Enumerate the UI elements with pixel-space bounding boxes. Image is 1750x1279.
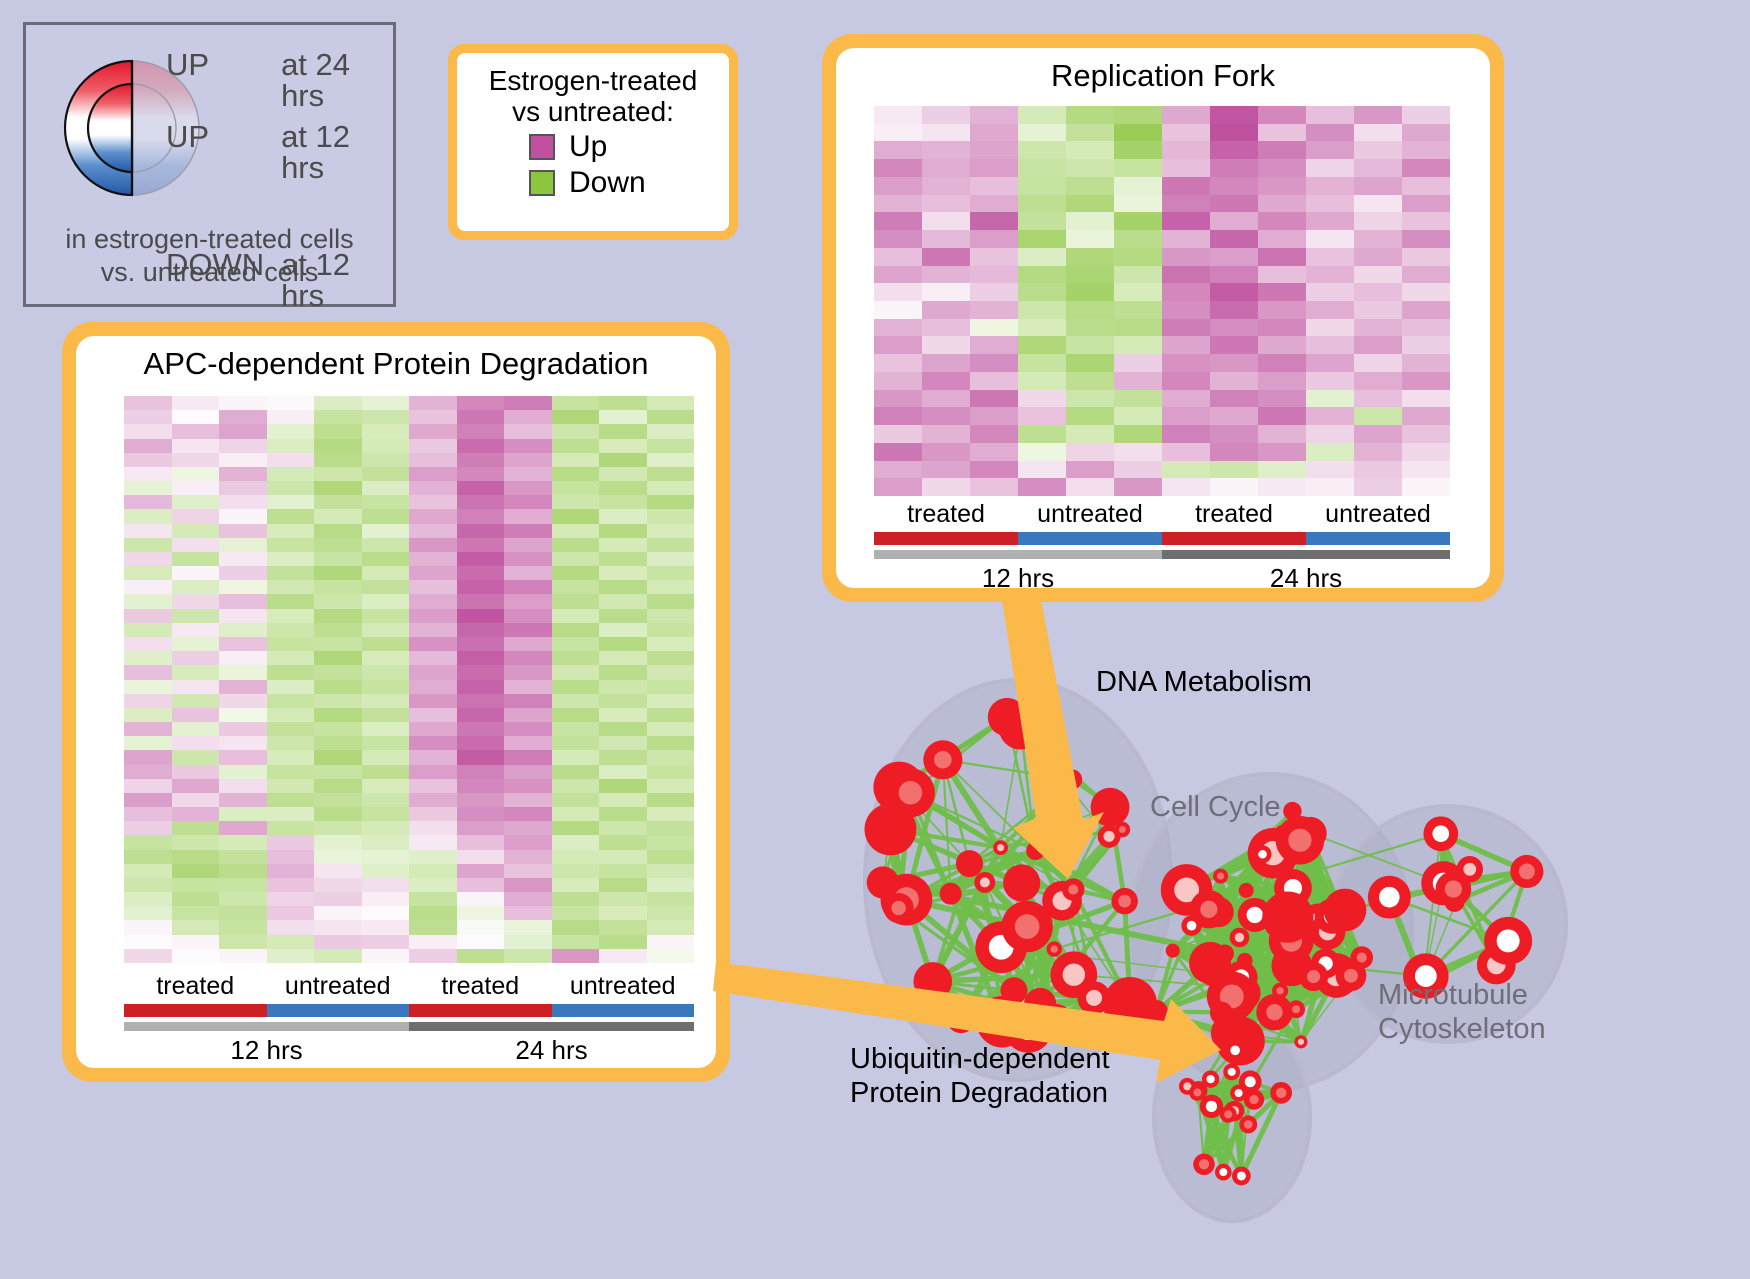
color-key-row: UP at 12 hrs xyxy=(166,121,393,183)
heatmap-cell xyxy=(1066,425,1114,443)
heatmap-cell xyxy=(124,864,172,878)
heatmap-cell xyxy=(1354,478,1402,496)
heatmap-cell xyxy=(1258,301,1306,319)
network-node-core xyxy=(1379,887,1400,908)
network-node-core xyxy=(1432,825,1449,842)
heatmap-cell xyxy=(874,141,922,159)
heatmap-cell xyxy=(409,580,457,594)
heatmap-cell xyxy=(457,665,505,679)
heatmap-cell xyxy=(219,779,267,793)
heatmap-cell xyxy=(124,566,172,580)
heatmap-cell xyxy=(124,949,172,963)
heatmap-cell xyxy=(314,850,362,864)
heatmap-cell xyxy=(647,524,695,538)
heatmap-cell xyxy=(219,524,267,538)
heatmap-cell xyxy=(362,609,410,623)
heatmap-cell xyxy=(219,609,267,623)
network-node-core xyxy=(1104,831,1115,842)
heatmap-cell xyxy=(874,195,922,213)
color-key-direction: UP xyxy=(166,121,281,152)
heatmap-cell xyxy=(874,106,922,124)
heatmap-cell xyxy=(267,524,315,538)
heatmap-cell xyxy=(362,651,410,665)
heatmap-cell xyxy=(267,481,315,495)
heatmap-cell xyxy=(1018,390,1066,408)
network-node-core xyxy=(1276,1088,1286,1098)
network-node xyxy=(999,706,1043,750)
network-node xyxy=(1166,944,1180,958)
heatmap-cell xyxy=(219,750,267,764)
heatmap-cell xyxy=(504,637,552,651)
network-node-core xyxy=(1206,1101,1217,1112)
network-node-core xyxy=(1016,1017,1039,1040)
heatmap-cell xyxy=(1018,283,1066,301)
heatmap-cell xyxy=(599,509,647,523)
axis-group-label: untreated xyxy=(1306,500,1450,529)
heatmap-cell xyxy=(362,424,410,438)
heatmap-cell xyxy=(1066,478,1114,496)
heatmap-cell xyxy=(504,509,552,523)
heatmap-cell xyxy=(267,623,315,637)
heatmap-cell xyxy=(599,821,647,835)
heatmap-cell xyxy=(1114,283,1162,301)
heatmap-cell xyxy=(922,319,970,337)
heatmap-cell xyxy=(267,878,315,892)
heatmap-cell xyxy=(504,736,552,750)
heatmap-cell xyxy=(874,301,922,319)
heatmap-cell xyxy=(362,835,410,849)
heatmap-cell xyxy=(1162,230,1210,248)
heatmap-cell xyxy=(124,410,172,424)
heatmap-cell xyxy=(922,461,970,479)
heatmap-cell xyxy=(599,835,647,849)
network-node-core xyxy=(1068,885,1078,895)
heatmap-cell xyxy=(267,637,315,651)
heatmap-cell xyxy=(1162,141,1210,159)
heatmap-cell xyxy=(1162,212,1210,230)
heatmap-cell xyxy=(219,396,267,410)
heatmap-cell xyxy=(314,935,362,949)
heatmap-cell xyxy=(172,665,220,679)
heatmap-cell xyxy=(552,892,600,906)
heatmap-cell xyxy=(457,623,505,637)
heatmap-cell xyxy=(1018,177,1066,195)
heatmap-cell xyxy=(1258,248,1306,266)
heatmap-cell xyxy=(1018,212,1066,230)
heatmap-cell xyxy=(409,594,457,608)
heatmap-apc-degradation xyxy=(124,396,694,963)
heatmap-cell xyxy=(172,580,220,594)
axis-group-label: untreated xyxy=(267,972,410,1001)
heatmap-cell xyxy=(124,538,172,552)
heatmap-cell xyxy=(599,864,647,878)
heatmap-cell xyxy=(362,765,410,779)
heatmap-cell xyxy=(172,623,220,637)
heatmap-cell xyxy=(1114,124,1162,142)
heatmap-cell xyxy=(219,835,267,849)
heatmap-cell xyxy=(552,538,600,552)
network-node-core xyxy=(1247,907,1263,923)
network-node xyxy=(1062,769,1082,789)
heatmap-cell xyxy=(172,949,220,963)
heatmap-cell xyxy=(409,906,457,920)
heatmap-cell xyxy=(409,892,457,906)
heatmap-cell xyxy=(124,495,172,509)
heatmap-cell xyxy=(172,439,220,453)
network-label-line1: Microtubule xyxy=(1378,978,1546,1012)
heatmap-cell xyxy=(267,850,315,864)
heatmap-cell xyxy=(362,665,410,679)
heatmap-cell xyxy=(552,821,600,835)
heatmap-cell xyxy=(1114,195,1162,213)
heatmap-cell xyxy=(647,538,695,552)
network-node xyxy=(1210,1002,1233,1025)
heatmap-cell xyxy=(172,651,220,665)
color-key-time: at 24 hrs xyxy=(281,49,393,111)
heatmap-cell xyxy=(172,453,220,467)
heatmap-cell xyxy=(504,779,552,793)
heatmap-cell xyxy=(267,736,315,750)
heatmap-cell xyxy=(1402,354,1450,372)
heatmap-cell xyxy=(647,410,695,424)
axis-treatment-segment xyxy=(267,1004,410,1017)
heatmap-cell xyxy=(1354,212,1402,230)
heatmap-cell xyxy=(1402,425,1450,443)
heatmap-cell xyxy=(1162,425,1210,443)
heatmap-cell xyxy=(172,509,220,523)
heatmap-cell xyxy=(1162,124,1210,142)
heatmap-cell xyxy=(874,266,922,284)
heatmap-cell xyxy=(1018,248,1066,266)
heatmap-cell xyxy=(647,439,695,453)
heatmap-cell xyxy=(172,396,220,410)
heatmap-cell xyxy=(1066,336,1114,354)
heatmap-cell xyxy=(457,722,505,736)
heatmap-cell xyxy=(457,750,505,764)
heatmap-cell xyxy=(647,594,695,608)
legend-label-down: Down xyxy=(569,166,646,200)
heatmap-cell xyxy=(219,566,267,580)
heatmap-cell xyxy=(1066,159,1114,177)
heatmap-cell xyxy=(172,920,220,934)
heatmap-cell xyxy=(1114,372,1162,390)
heatmap-cell xyxy=(362,708,410,722)
heatmap-cell xyxy=(362,892,410,906)
heatmap-cell xyxy=(1258,407,1306,425)
heatmap-cell xyxy=(314,623,362,637)
heatmap-cell xyxy=(1018,336,1066,354)
heatmap-cell xyxy=(314,949,362,963)
color-key-time: at 12 hrs xyxy=(281,121,393,183)
heatmap-cell xyxy=(172,736,220,750)
heatmap-cell xyxy=(124,623,172,637)
heatmap-cell xyxy=(599,580,647,594)
network-node-core xyxy=(1357,952,1367,962)
heatmap-cell xyxy=(267,935,315,949)
heatmap-cell xyxy=(457,424,505,438)
heatmap-cell xyxy=(362,594,410,608)
heatmap-cell xyxy=(1258,266,1306,284)
heatmap-cell xyxy=(599,736,647,750)
heatmap-cell xyxy=(599,623,647,637)
heatmap-cell xyxy=(124,439,172,453)
heatmap-cell xyxy=(599,750,647,764)
heatmap-cell xyxy=(1306,248,1354,266)
heatmap-cell xyxy=(362,495,410,509)
network-node xyxy=(1003,864,1040,901)
heatmap-cell xyxy=(1210,212,1258,230)
heatmap-cell xyxy=(1306,443,1354,461)
heatmap-cell xyxy=(314,566,362,580)
heatmap-cell xyxy=(874,354,922,372)
heatmap-cell xyxy=(362,580,410,594)
heatmap-cell xyxy=(552,609,600,623)
heatmap-cell xyxy=(314,396,362,410)
axis-time-label: 24 hrs xyxy=(409,1035,694,1066)
heatmap-cell xyxy=(1018,425,1066,443)
network-label-cell-cycle: Cell Cycle xyxy=(1150,790,1281,824)
heatmap-cell xyxy=(1354,425,1402,443)
heatmap-cell xyxy=(552,651,600,665)
heatmap-cell xyxy=(922,443,970,461)
heatmap-cell xyxy=(504,623,552,637)
heatmap-cell xyxy=(172,892,220,906)
legend-item-down: Down xyxy=(529,166,715,200)
heatmap-cell xyxy=(1354,230,1402,248)
heatmap-cell xyxy=(124,481,172,495)
heatmap-cell xyxy=(1162,266,1210,284)
heatmap-cell xyxy=(970,372,1018,390)
heatmap-cell xyxy=(457,439,505,453)
heatmap-cell xyxy=(1210,266,1258,284)
heatmap-cell xyxy=(552,467,600,481)
heatmap-cell xyxy=(314,920,362,934)
heatmap-cell xyxy=(1354,106,1402,124)
heatmap-cell xyxy=(219,467,267,481)
heatmap-cell xyxy=(267,680,315,694)
heatmap-cell xyxy=(124,509,172,523)
heatmap-cell xyxy=(1210,478,1258,496)
network-node-core xyxy=(934,751,952,769)
axis-treatment-bar xyxy=(874,532,1450,545)
heatmap-cell xyxy=(599,708,647,722)
heatmap-cell xyxy=(552,637,600,651)
heatmap-cell xyxy=(172,722,220,736)
heatmap-cell xyxy=(124,906,172,920)
heatmap-cell xyxy=(1066,319,1114,337)
network-node-core xyxy=(1292,1005,1300,1013)
heatmap-cell xyxy=(970,336,1018,354)
heatmap-cell xyxy=(504,665,552,679)
heatmap-cell xyxy=(504,481,552,495)
heatmap-cell xyxy=(1114,106,1162,124)
heatmap-cell xyxy=(647,708,695,722)
heatmap-cell xyxy=(647,495,695,509)
heatmap-cell xyxy=(1066,266,1114,284)
heatmap-cell xyxy=(124,396,172,410)
heatmap-cell xyxy=(457,509,505,523)
heatmap-cell xyxy=(1354,283,1402,301)
heatmap-cell xyxy=(1210,319,1258,337)
heatmap-cell xyxy=(1306,106,1354,124)
heatmap-cell xyxy=(219,935,267,949)
axis-time-segment xyxy=(874,550,1162,559)
heatmap-cell xyxy=(172,807,220,821)
heatmap-cell xyxy=(124,694,172,708)
network-node-core xyxy=(1118,895,1131,908)
network-node-core xyxy=(1199,1159,1209,1169)
legend-title: Estrogen-treated vs untreated: xyxy=(471,65,715,128)
heatmap-cell xyxy=(1114,478,1162,496)
heatmap-cell xyxy=(504,439,552,453)
heatmap-cell xyxy=(922,283,970,301)
color-key-footer: in estrogen-treated cells vs. untreated … xyxy=(26,223,393,289)
heatmap-cell xyxy=(1402,461,1450,479)
heatmap-cell xyxy=(647,467,695,481)
heatmap-cell xyxy=(1402,336,1450,354)
heatmap-cell xyxy=(1210,177,1258,195)
legend-label-up: Up xyxy=(569,130,607,164)
heatmap-cell xyxy=(970,390,1018,408)
heatmap-cell xyxy=(124,708,172,722)
heatmap-cell xyxy=(1162,461,1210,479)
heatmap-cell xyxy=(457,651,505,665)
network-node-core xyxy=(980,877,990,887)
heatmap-cell xyxy=(409,807,457,821)
heatmap-cell xyxy=(1258,425,1306,443)
network-node-core xyxy=(891,901,905,915)
heatmap-cell xyxy=(1066,443,1114,461)
heatmap-cell xyxy=(922,478,970,496)
heatmap-cell xyxy=(1402,195,1450,213)
network-node xyxy=(1144,1000,1168,1024)
heatmap-cell xyxy=(457,694,505,708)
axis-treatment-segment xyxy=(1162,532,1306,545)
heatmap-cell xyxy=(1210,336,1258,354)
heatmap-cell xyxy=(457,524,505,538)
heatmap-cell xyxy=(172,424,220,438)
heatmap-cell xyxy=(172,935,220,949)
heatmap-cell xyxy=(219,439,267,453)
heatmap-replication-fork xyxy=(874,106,1450,496)
heatmap-cell xyxy=(314,410,362,424)
axis-treatment-segment xyxy=(409,1004,552,1017)
axis-group-labels: treateduntreatedtreateduntreated xyxy=(124,972,694,1001)
heatmap-cell xyxy=(409,665,457,679)
heatmap-cell xyxy=(172,637,220,651)
heatmap-cell xyxy=(552,750,600,764)
heatmap-cell xyxy=(504,424,552,438)
heatmap-cell xyxy=(1306,212,1354,230)
heatmap-cell xyxy=(552,439,600,453)
heatmap-cell xyxy=(552,509,600,523)
network-node-core xyxy=(1235,1089,1243,1097)
heatmap-cell xyxy=(504,722,552,736)
heatmap-cell xyxy=(504,750,552,764)
heatmap-cell xyxy=(124,878,172,892)
heatmap-cell xyxy=(314,708,362,722)
heatmap-cell xyxy=(314,481,362,495)
heatmap-cell xyxy=(1354,319,1402,337)
heatmap-cell xyxy=(124,920,172,934)
heatmap-cell xyxy=(970,248,1018,266)
heatmap-cell xyxy=(552,495,600,509)
heatmap-cell xyxy=(124,765,172,779)
heatmap-cell xyxy=(647,835,695,849)
heatmap-cell xyxy=(599,949,647,963)
axis-time-segment xyxy=(409,1022,694,1031)
legend-title-line2: vs untreated: xyxy=(471,96,715,127)
heatmap-cell xyxy=(314,637,362,651)
heatmap-cell xyxy=(1258,195,1306,213)
heatmap-cell xyxy=(314,424,362,438)
heatmap-cell xyxy=(314,878,362,892)
pathway-network-diagram: DNA Metabolism Cell Cycle Microtubule Cy… xyxy=(800,612,1750,1279)
network-node xyxy=(1262,891,1313,942)
heatmap-cell xyxy=(504,538,552,552)
heatmap-cell xyxy=(409,765,457,779)
heatmap-cell xyxy=(552,864,600,878)
network-node-core xyxy=(1193,1089,1201,1097)
network-node xyxy=(946,1003,976,1033)
heatmap-cell xyxy=(1354,461,1402,479)
heatmap-cell xyxy=(409,495,457,509)
axis-group-label: treated xyxy=(1162,500,1306,529)
heatmap-cell xyxy=(504,580,552,594)
heatmap-cell xyxy=(1258,372,1306,390)
heatmap-cell xyxy=(267,410,315,424)
network-node-core xyxy=(1206,1075,1214,1083)
heatmap-cell xyxy=(219,594,267,608)
heatmap-cell xyxy=(874,390,922,408)
heatmap-cell xyxy=(1114,230,1162,248)
heatmap-cell xyxy=(457,552,505,566)
heatmap-cell xyxy=(219,680,267,694)
heatmap-cell xyxy=(647,623,695,637)
heatmap-cell xyxy=(552,906,600,920)
heatmap-cell xyxy=(1306,177,1354,195)
heatmap-cell xyxy=(409,935,457,949)
heatmap-cell xyxy=(552,708,600,722)
heatmap-cell xyxy=(599,878,647,892)
heatmap-cell xyxy=(1066,141,1114,159)
heatmap-cell xyxy=(970,407,1018,425)
axis-time-segment xyxy=(124,1022,409,1031)
heatmap-cell xyxy=(599,566,647,580)
heatmap-cell xyxy=(1258,106,1306,124)
heatmap-cell xyxy=(362,410,410,424)
heatmap-cell xyxy=(552,807,600,821)
heatmap-cell xyxy=(172,821,220,835)
heatmap-cell xyxy=(504,935,552,949)
heatmap-cell xyxy=(314,864,362,878)
heatmap-cell xyxy=(1018,478,1066,496)
heatmap-cell xyxy=(504,949,552,963)
heatmap-cell xyxy=(1402,141,1450,159)
heatmap-cell xyxy=(362,906,410,920)
heatmap-cell xyxy=(124,821,172,835)
heatmap-cell xyxy=(409,637,457,651)
network-node-core xyxy=(1277,987,1284,994)
heatmap-cell xyxy=(599,651,647,665)
heatmap-cell xyxy=(922,141,970,159)
heatmap-cell xyxy=(172,878,220,892)
heatmap-cell xyxy=(314,736,362,750)
heatmap-cell xyxy=(409,481,457,495)
heatmap-cell xyxy=(1258,336,1306,354)
heatmap-cell xyxy=(409,949,457,963)
heatmap-cell xyxy=(552,524,600,538)
